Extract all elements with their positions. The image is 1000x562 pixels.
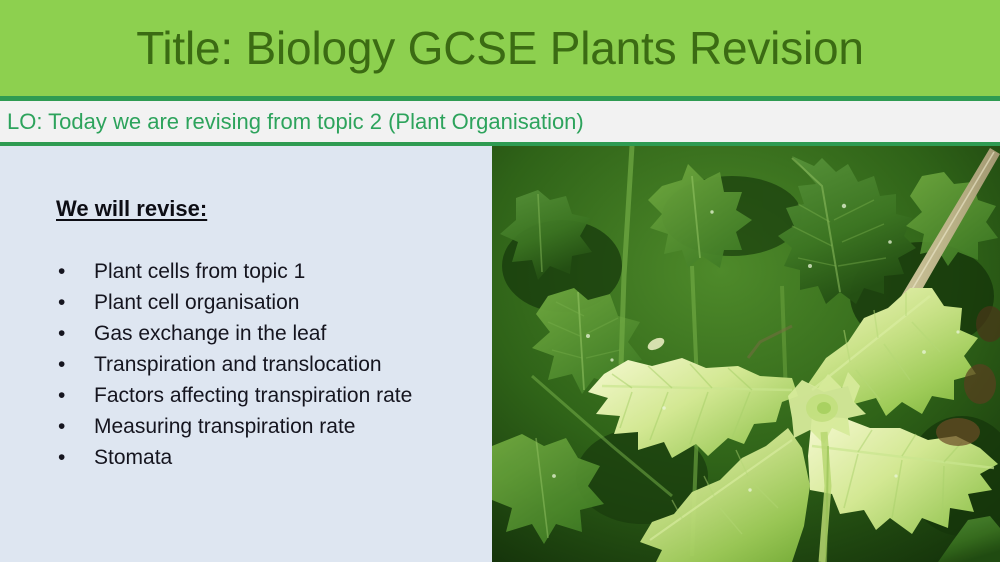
- list-item: • Transpiration and translocation: [52, 349, 482, 380]
- list-item: • Stomata: [52, 442, 482, 473]
- list-item-label: Factors affecting transpiration rate: [94, 380, 482, 411]
- list-item: • Plant cell organisation: [52, 287, 482, 318]
- content-heading: We will revise:: [56, 198, 207, 220]
- list-item-label: Plant cell organisation: [94, 287, 482, 318]
- list-item: • Plant cells from topic 1: [52, 256, 482, 287]
- list-item-label: Transpiration and translocation: [94, 349, 482, 380]
- bullet-point-icon: •: [52, 287, 94, 318]
- bullet-point-icon: •: [52, 380, 94, 411]
- bullet-point-icon: •: [52, 318, 94, 349]
- title-banner: Title: Biology GCSE Plants Revision: [0, 0, 1000, 96]
- page-title: Title: Biology GCSE Plants Revision: [136, 25, 864, 71]
- presentation-slide: Title: Biology GCSE Plants Revision LO: …: [0, 0, 1000, 562]
- list-item: • Gas exchange in the leaf: [52, 318, 482, 349]
- revision-topics-list: • Plant cells from topic 1 • Plant cell …: [52, 256, 482, 473]
- list-item-label: Measuring transpiration rate: [94, 411, 482, 442]
- list-item: • Measuring transpiration rate: [52, 411, 482, 442]
- bullet-point-icon: •: [52, 442, 94, 473]
- list-item-label: Gas exchange in the leaf: [94, 318, 482, 349]
- stinging-nettle-plants-photo: [492, 146, 1000, 562]
- learning-objective-band: LO: Today we are revising from topic 2 (…: [0, 101, 1000, 142]
- learning-objective-text: LO: Today we are revising from topic 2 (…: [0, 111, 584, 133]
- bullet-point-icon: •: [52, 411, 94, 442]
- list-item-label: Stomata: [94, 442, 482, 473]
- list-item: • Factors affecting transpiration rate: [52, 380, 482, 411]
- bullet-point-icon: •: [52, 256, 94, 287]
- bullet-point-icon: •: [52, 349, 94, 380]
- list-item-label: Plant cells from topic 1: [94, 256, 482, 287]
